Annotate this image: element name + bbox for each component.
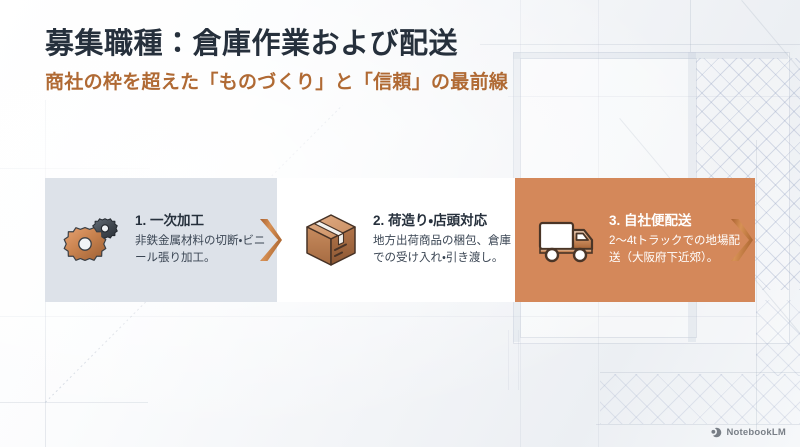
process-step-2-text: 2. 荷造り・店頭対応 地方出荷商品の梱包、倉庫での受け入れ・引き渡し。 [373,213,513,266]
footer-brand-label: NotebookLM [726,427,786,438]
process-step-1-text: 1. 一次加工 非鉄金属材料の切断・ビニール張り加工。 [135,213,267,266]
process-step-2[interactable]: 2. 荷造り・店頭対応 地方出荷商品の梱包、倉庫での受け入れ・引き渡し。 [277,178,515,302]
process-step-1-body: 非鉄金属材料の切断・ビニール張り加工。 [135,233,267,266]
notebooklm-logo-icon [711,427,722,438]
page-subtitle: 商社の枠を超えた「ものづくり」と「信頼」の最前線 [45,71,508,96]
process-step-1-title: 1. 一次加工 [135,213,267,230]
delivery-truck-icon [535,208,599,272]
footer-watermark: NotebookLM [711,427,786,438]
slide-canvas: 募集職種：倉庫作業および配送 商社の枠を超えた「ものづくり」と「信頼」の最前線 [0,0,800,447]
header: 募集職種：倉庫作業および配送 商社の枠を超えた「ものづくり」と「信頼」の最前線 [45,26,508,96]
process-flow: 1. 一次加工 非鉄金属材料の切断・ビニール張り加工。 [45,178,755,302]
gears-icon [61,208,125,272]
chevron-right-icon-2 [729,217,755,263]
process-step-2-body: 地方出荷商品の梱包、倉庫での受け入れ・引き渡し。 [373,233,513,266]
page-title: 募集職種：倉庫作業および配送 [45,26,508,62]
process-step-1[interactable]: 1. 一次加工 非鉄金属材料の切断・ビニール張り加工。 [45,178,277,302]
package-box-icon [299,208,363,272]
process-step-3[interactable]: 3. 自社便配送 2〜4tトラックでの地場配送（大阪府下近郊）。 [515,178,755,302]
process-step-2-title: 2. 荷造り・店頭対応 [373,213,513,230]
chevron-right-icon [258,217,284,263]
